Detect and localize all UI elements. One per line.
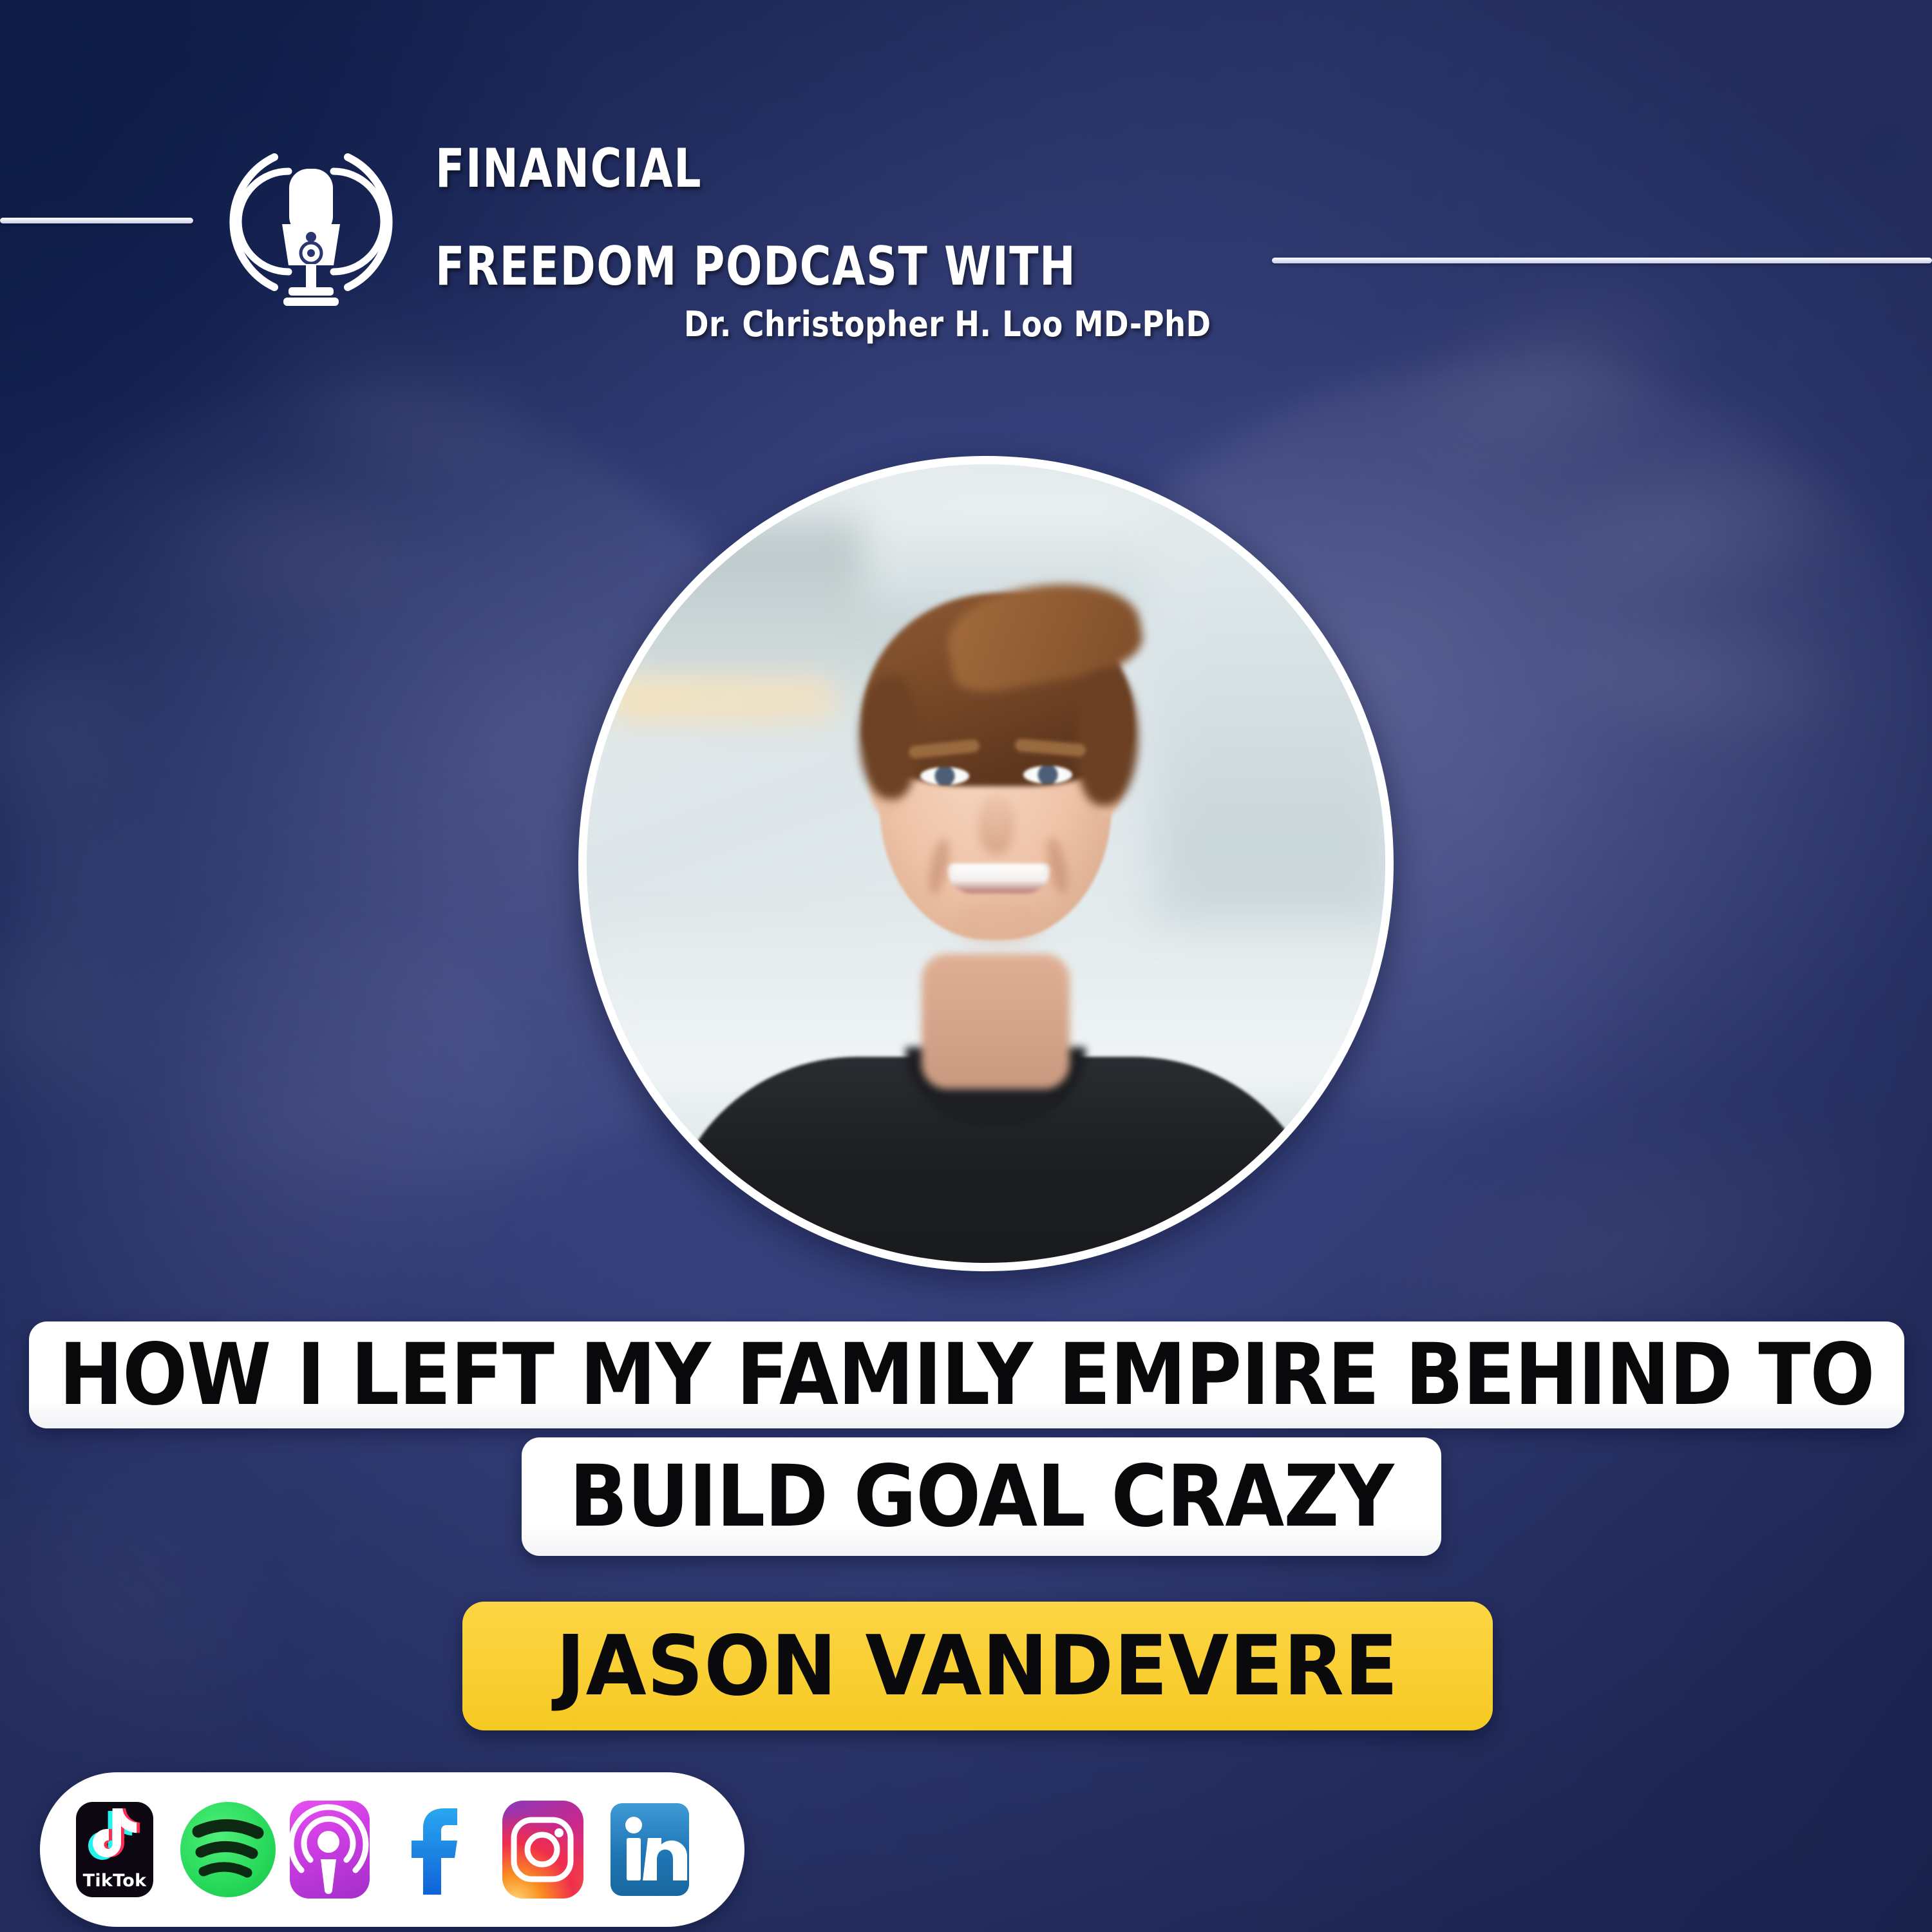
portrait-bg-light-strip <box>606 677 838 722</box>
social-links-bar: TikTok <box>40 1772 744 1927</box>
podcast-microphone-icon <box>227 129 395 317</box>
portrait-neck <box>922 954 1070 1089</box>
brand-line-2: FREEDOM PODCAST WITH <box>435 236 1260 298</box>
decorative-line-left <box>0 218 193 223</box>
guest-name-text: JASON VANDEVERE <box>556 1618 1399 1714</box>
portrait-mouth <box>947 864 1050 893</box>
guest-name-badge: JASON VANDEVERE <box>462 1602 1493 1730</box>
tiktok-label: TikTok <box>68 1871 161 1891</box>
portrait-hair-side-left <box>860 677 918 799</box>
linkedin-in-glyph <box>603 1798 696 1901</box>
episode-title-line-1: HOW I LEFT MY FAMILY EMPIRE BEHIND TO <box>29 1321 1904 1428</box>
portrait-hair-side-right <box>1076 670 1138 806</box>
brand-line-1: FINANCIAL <box>435 138 1260 200</box>
episode-title-line-1-text: HOW I LEFT MY FAMILY EMPIRE BEHIND TO <box>59 1325 1875 1425</box>
tiktok-icon[interactable]: TikTok <box>68 1798 161 1901</box>
apple-podcasts-antenna-glyph <box>282 1798 375 1901</box>
facebook-icon[interactable] <box>389 1798 482 1901</box>
spotify-icon[interactable] <box>175 1798 268 1901</box>
episode-title-line-2-text: BUILD GOAL CRAZY <box>569 1447 1394 1546</box>
facebook-f-glyph <box>389 1798 482 1901</box>
apple-podcasts-icon[interactable] <box>282 1798 375 1901</box>
portrait-nose <box>978 794 1014 855</box>
portrait-chin <box>954 901 1044 943</box>
portrait-eye-left <box>920 767 969 785</box>
episode-title-line-2: BUILD GOAL CRAZY <box>522 1437 1441 1556</box>
brand-title: FINANCIAL FREEDOM PODCAST WITH <box>435 138 1466 298</box>
avatar <box>578 456 1394 1271</box>
portrait-eye-right <box>1023 766 1072 784</box>
podcast-cover: FINANCIAL FREEDOM PODCAST WITH Dr. Chris… <box>0 0 1932 1932</box>
instagram-icon[interactable] <box>496 1798 589 1901</box>
spotify-waves-glyph <box>175 1798 268 1901</box>
instagram-camera-glyph <box>496 1798 589 1901</box>
linkedin-icon[interactable] <box>603 1798 696 1901</box>
host-name: Dr. Christopher H. Loo MD-PhD <box>684 304 1211 345</box>
